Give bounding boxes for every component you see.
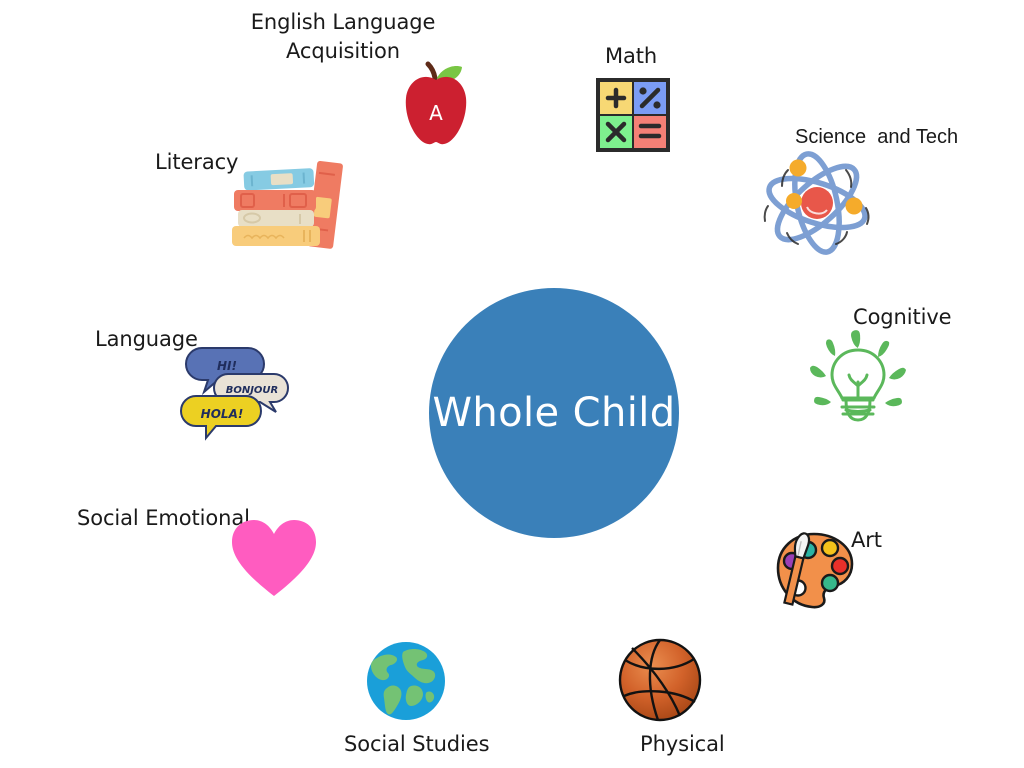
- bubble-text-bonjour: BONJOUR: [226, 385, 279, 396]
- lightbulb-icon[interactable]: [806, 328, 910, 428]
- apple-icon[interactable]: A: [398, 62, 474, 148]
- bubble-text-hi: HI!: [217, 359, 237, 373]
- atom-icon[interactable]: [760, 148, 875, 258]
- basketball-icon[interactable]: [618, 638, 702, 722]
- book-stack-icon[interactable]: [226, 160, 350, 252]
- bubble-text-hola: HOLA!: [201, 407, 244, 421]
- label-math: Math: [605, 42, 657, 71]
- label-social-emotional: Social Emotional: [77, 504, 250, 533]
- label-physical: Physical: [640, 730, 725, 759]
- heart-icon[interactable]: [230, 518, 318, 598]
- diagram-canvas: Whole Child English Language Acquisition…: [0, 0, 1024, 768]
- paint-palette-icon[interactable]: [772, 528, 860, 610]
- center-node-whole-child[interactable]: Whole Child: [429, 288, 679, 538]
- calculator-keys-icon[interactable]: [594, 76, 672, 154]
- apple-letter: A: [429, 101, 443, 125]
- globe-icon[interactable]: [365, 640, 447, 722]
- center-label: Whole Child: [432, 390, 675, 436]
- speech-bubbles-icon[interactable]: HI! BONJOUR HOLA!: [182, 340, 292, 440]
- label-english-language-acquisition: English Language Acquisition: [250, 8, 436, 66]
- label-social-studies: Social Studies: [344, 730, 489, 759]
